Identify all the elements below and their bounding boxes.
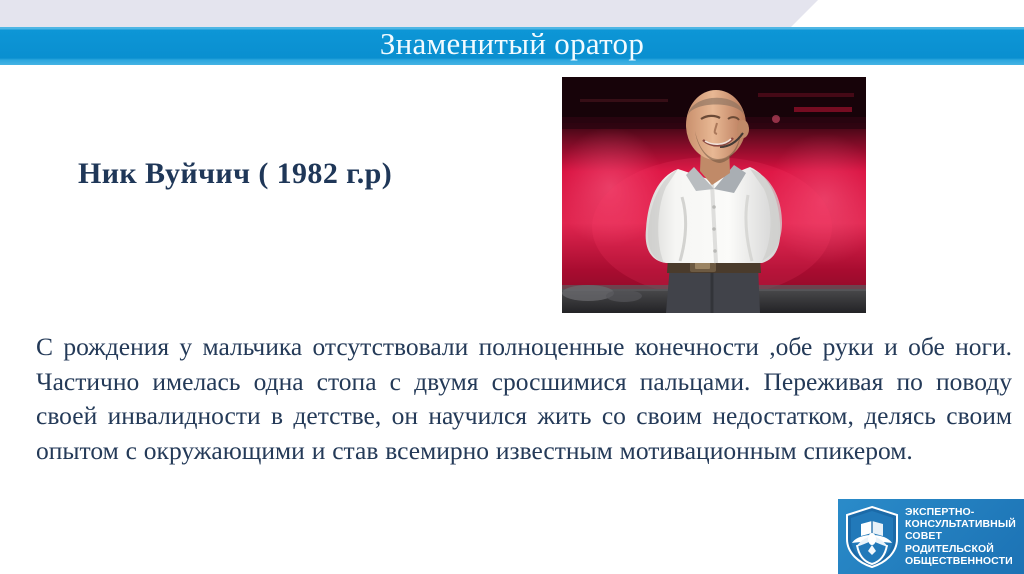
page-title: Знаменитый оратор: [0, 22, 1024, 66]
logo-line-5: ОБЩЕСТВЕННОСТИ: [905, 555, 1021, 567]
body-paragraph: С рождения у мальчика отсутствовали полн…: [36, 330, 1012, 468]
logo-line-1: ЭКСПЕРТНО-: [905, 506, 1021, 518]
person-name: Ник Вуйчич ( 1982 г.р): [78, 157, 392, 191]
speaker-photo: [562, 77, 866, 313]
organization-logo: ЭКСПЕРТНО- КОНСУЛЬТАТИВНЫЙ СОВЕТ РОДИТЕЛ…: [838, 499, 1024, 574]
shield-book-wings-icon: [843, 505, 901, 569]
presentation-slide: Знаменитый оратор Ник Вуйчич ( 1982 г.р): [0, 0, 1024, 574]
logo-line-3: СОВЕТ: [905, 530, 1021, 542]
logo-line-4: РОДИТЕЛЬСКОЙ: [905, 543, 1021, 555]
logo-line-2: КОНСУЛЬТАТИВНЫЙ: [905, 518, 1021, 530]
organization-name: ЭКСПЕРТНО- КОНСУЛЬТАТИВНЫЙ СОВЕТ РОДИТЕЛ…: [905, 506, 1024, 567]
